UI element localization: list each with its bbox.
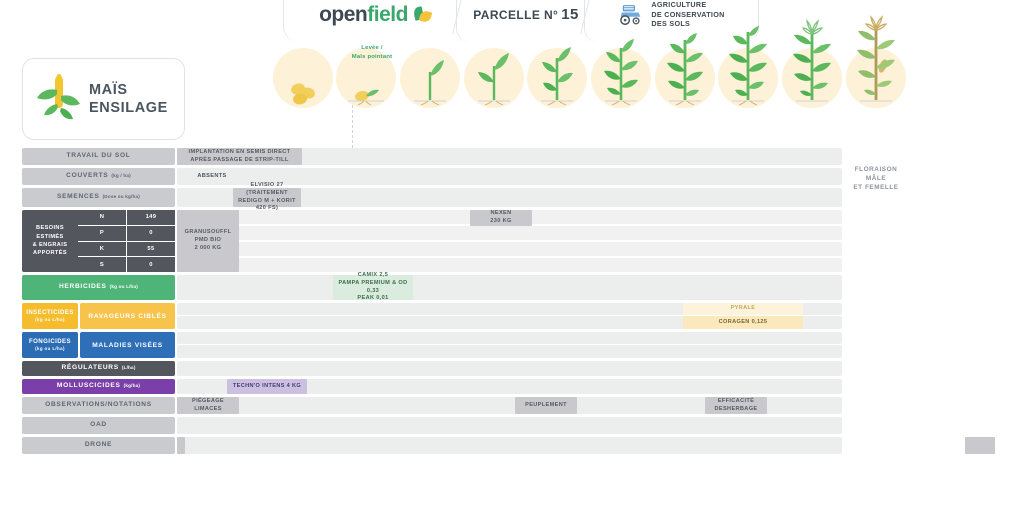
row-label-oad: OAD bbox=[22, 417, 175, 434]
row-label-semences-text: SEMENCES bbox=[57, 193, 100, 202]
row-label-fongicides-group: FONGICIDES (kg ou L/ha) MALADIES VISÉES bbox=[22, 332, 175, 358]
row-couverts: COUVERTS (kg / ha) ABSENTS bbox=[22, 168, 1002, 185]
cell-semences-value[interactable]: ELVISIO 27 (TRAITEMENT REDIGO M + KORIT … bbox=[233, 188, 301, 207]
crop-name-line1: MAÏS bbox=[89, 81, 168, 99]
maize-2-leaf-icon bbox=[469, 52, 519, 108]
cell-observation-peuplement[interactable]: PEUPLEMENT bbox=[515, 397, 577, 414]
cell-molluscicide-value[interactable]: TECHN'O INTENS 4 KG bbox=[227, 379, 307, 394]
row-travail-du-sol: TRAVAIL DU SOL IMPLANTATION EN SEMIS DIR… bbox=[22, 148, 1002, 165]
row-track-couverts: ABSENTS bbox=[175, 168, 1002, 185]
row-label-regulateurs: RÉGULATEURS (L/ha) bbox=[22, 361, 175, 376]
cell-travail-sol-value[interactable]: IMPLANTATION EN SEMIS DIRECT APRÈS PASSA… bbox=[177, 148, 302, 165]
nutrient-value-s[interactable]: 0 bbox=[127, 257, 175, 272]
row-label-couverts-unit: (kg / ha) bbox=[111, 173, 130, 179]
row-label-regulateurs-text: RÉGULATEURS bbox=[61, 364, 118, 373]
nutrient-row-s: S 0 bbox=[78, 257, 175, 272]
row-label-besoins: BESOINS ESTIMÉS & ENGRAIS APPORTÉS bbox=[22, 210, 78, 272]
acs-label: AGRICULTURE DE CONSERVATION DES SOLS bbox=[651, 0, 724, 29]
levee-annotation: Levée / Maïs pointant bbox=[330, 44, 414, 61]
row-track-drone bbox=[175, 437, 1002, 454]
stage-pre-semis[interactable] bbox=[204, 48, 270, 108]
stage-7-8f[interactable] bbox=[652, 48, 718, 108]
seeds-icon bbox=[281, 78, 325, 108]
growth-stage-timeline: PRÉ-SEMIS SEMIS GERMINATION 1 F 2 F 4 F … bbox=[175, 48, 1020, 146]
row-drone: DRONE bbox=[22, 437, 1002, 454]
row-label-insecticides-text: INSECTICIDES bbox=[26, 309, 73, 316]
row-label-insecticides: INSECTICIDES (kg ou L/ha) bbox=[22, 303, 78, 329]
cell-couverts-value[interactable]: ABSENTS bbox=[181, 168, 243, 185]
row-label-ravageurs-cibles: RAVAGEURS CIBLÉS bbox=[80, 303, 175, 329]
row-semences: SEMENCES (Dose ou kg/ha) ELVISIO 27 (TRA… bbox=[22, 188, 1002, 207]
row-track-fongicides bbox=[175, 332, 1002, 358]
row-track-regulateurs bbox=[175, 361, 1002, 376]
parcelle-tab[interactable]: PARCELLE N°15 bbox=[456, 0, 596, 42]
cell-observation-piegeage[interactable]: PIÉGEAGE LIMACES bbox=[177, 397, 239, 414]
parcelle-title: PARCELLE N°15 bbox=[473, 6, 578, 23]
acs-line-2: DE CONSERVATION bbox=[651, 10, 724, 20]
row-besoins-engrais: BESOINS ESTIMÉS & ENGRAIS APPORTÉS N 149… bbox=[22, 210, 1002, 272]
acs-line-3: DES SOLS bbox=[651, 19, 724, 29]
stage-4f[interactable] bbox=[524, 48, 590, 108]
maize-flowering-icon bbox=[846, 18, 906, 108]
germination-icon bbox=[342, 72, 390, 108]
openfield-leaf-icon bbox=[414, 7, 432, 23]
maize-plant-icon bbox=[33, 70, 85, 128]
nutrient-row-n: N 149 bbox=[78, 210, 175, 225]
nutrient-name-n: N bbox=[78, 210, 126, 225]
nutrient-value-n[interactable]: 149 bbox=[127, 210, 175, 225]
row-label-herbicides-unit: (kg ou L/ha) bbox=[110, 284, 138, 290]
row-label-travail-du-sol: TRAVAIL DU SOL bbox=[22, 148, 175, 165]
row-label-herbicides-text: HERBICIDES bbox=[59, 283, 107, 292]
cell-drone-marker-end[interactable] bbox=[965, 437, 995, 454]
nutrient-value-p[interactable]: 0 bbox=[127, 226, 175, 241]
row-label-fongicides: FONGICIDES (kg ou L/ha) bbox=[22, 332, 78, 358]
row-label-observations: OBSERVATIONS/NOTATIONS bbox=[22, 397, 175, 414]
row-label-drone: DRONE bbox=[22, 437, 175, 454]
row-track-observations: PIÉGEAGE LIMACES PEUPLEMENT EFFICACITÉ D… bbox=[175, 397, 1002, 414]
row-herbicides: HERBICIDES (kg ou L/ha) CAMIX 2,5 PAMPA … bbox=[22, 275, 1002, 300]
nutrient-value-k[interactable]: 55 bbox=[127, 242, 175, 257]
row-track-engrais: GRANUSOUFFL PMD BIO 2 000 KG NEXEN 230 K… bbox=[175, 210, 1002, 272]
cell-observation-efficacite[interactable]: EFFICACITÉ DESHERBAGE bbox=[705, 397, 767, 414]
cell-insecticide-coragen[interactable]: CORAGEN 0,125 bbox=[683, 316, 803, 329]
row-label-molluscicides-unit: (kg/ha) bbox=[124, 383, 140, 389]
crop-name-line2: ENSILAGE bbox=[89, 99, 168, 117]
tractor-icon bbox=[618, 4, 644, 26]
cell-ravageur-pyrale[interactable]: PYRALE bbox=[683, 303, 803, 315]
row-insecticides: INSECTICIDES (kg ou L/ha) RAVAGEURS CIBL… bbox=[22, 303, 1002, 329]
row-label-maladies-visees: MALADIES VISÉES bbox=[80, 332, 175, 358]
cell-engrais-nexen[interactable]: NEXEN 230 KG bbox=[470, 210, 532, 226]
nutrient-row-k: K 55 bbox=[78, 242, 175, 257]
row-label-fongicides-unit: (kg ou L/ha) bbox=[29, 346, 71, 352]
parcelle-label: PARCELLE N° bbox=[473, 8, 558, 22]
nutrient-row-p: P 0 bbox=[78, 226, 175, 241]
row-label-fongicides-text: FONGICIDES bbox=[29, 338, 71, 345]
maize-6-leaf-icon bbox=[594, 42, 648, 108]
cell-engrais-granusoufre[interactable]: GRANUSOUFFL PMD BIO 2 000 KG bbox=[177, 210, 239, 272]
row-molluscicides: MOLLUSCICIDES (kg/ha) TECHN'O INTENS 4 K… bbox=[22, 379, 1002, 394]
parcelle-number: 15 bbox=[561, 6, 579, 23]
row-label-semences-unit: (Dose ou kg/ha) bbox=[103, 194, 140, 200]
row-track-travail-du-sol: IMPLANTATION EN SEMIS DIRECT APRÈS PASSA… bbox=[175, 148, 1002, 165]
maize-4-leaf-icon bbox=[531, 48, 583, 108]
row-track-semences: ELVISIO 27 (TRAITEMENT REDIGO M + KORIT … bbox=[175, 188, 1002, 207]
acs-line-1: AGRICULTURE bbox=[651, 0, 724, 10]
stage-6f[interactable] bbox=[588, 48, 654, 108]
row-oad: OAD bbox=[22, 417, 1002, 434]
row-track-herbicides: CAMIX 2,5 PAMPA PREMIUM & OD 0,33 PEAK 0… bbox=[175, 275, 1002, 300]
nutrient-table: BESOINS ESTIMÉS & ENGRAIS APPORTÉS N 149… bbox=[22, 210, 175, 272]
row-label-molluscicides-text: MOLLUSCICIDES bbox=[57, 382, 121, 391]
stage-panicule-visible[interactable] bbox=[779, 48, 845, 108]
maize-1-leaf-icon bbox=[406, 56, 454, 108]
cell-herbicide-value[interactable]: CAMIX 2,5 PAMPA PREMIUM & OD 0,33 PEAK 0… bbox=[333, 275, 413, 300]
cell-drone-marker-start[interactable] bbox=[177, 437, 185, 454]
row-label-insecticides-group: INSECTICIDES (kg ou L/ha) RAVAGEURS CIBL… bbox=[22, 303, 175, 329]
brand-field-text: field bbox=[367, 3, 408, 27]
openfield-logo: openfield bbox=[319, 3, 432, 27]
brand-tab-openfield[interactable]: openfield bbox=[283, 0, 468, 42]
row-fongicides: FONGICIDES (kg ou L/ha) MALADIES VISÉES bbox=[22, 332, 1002, 358]
stage-floraison[interactable] bbox=[843, 48, 909, 108]
maize-10-leaf-icon bbox=[719, 30, 777, 108]
row-label-couverts: COUVERTS (kg / ha) bbox=[22, 168, 175, 185]
stage-semis[interactable] bbox=[270, 48, 336, 108]
brand-open-text: open bbox=[319, 3, 367, 27]
row-observations: OBSERVATIONS/NOTATIONS PIÉGEAGE LIMACES … bbox=[22, 397, 1002, 414]
maize-panicle-icon bbox=[782, 20, 842, 108]
nutrient-name-k: K bbox=[78, 242, 126, 257]
maize-8-leaf-icon bbox=[657, 36, 713, 108]
itinerary-table: TRAVAIL DU SOL IMPLANTATION EN SEMIS DIR… bbox=[22, 148, 1002, 457]
row-regulateurs: RÉGULATEURS (L/ha) bbox=[22, 361, 1002, 376]
row-track-molluscicides: TECHN'O INTENS 4 KG bbox=[175, 379, 1002, 394]
row-track-insecticides: PYRALE CORAGEN 0,125 bbox=[175, 303, 1002, 329]
row-label-herbicides: HERBICIDES (kg ou L/ha) bbox=[22, 275, 175, 300]
nutrient-name-s: S bbox=[78, 257, 126, 272]
row-label-couverts-text: COUVERTS bbox=[66, 172, 108, 181]
crop-name: MAÏS ENSILAGE bbox=[89, 81, 168, 117]
row-label-molluscicides: MOLLUSCICIDES (kg/ha) bbox=[22, 379, 175, 394]
crop-logo-card: MAÏS ENSILAGE bbox=[22, 58, 185, 140]
stage-10f[interactable] bbox=[715, 48, 781, 108]
stage-2f[interactable] bbox=[461, 48, 527, 108]
row-label-regulateurs-unit: (L/ha) bbox=[122, 365, 136, 371]
nutrient-name-p: P bbox=[78, 226, 126, 241]
row-label-insecticides-unit: (kg ou L/ha) bbox=[26, 317, 73, 323]
row-track-oad bbox=[175, 417, 1002, 434]
row-label-semences: SEMENCES (Dose ou kg/ha) bbox=[22, 188, 175, 207]
